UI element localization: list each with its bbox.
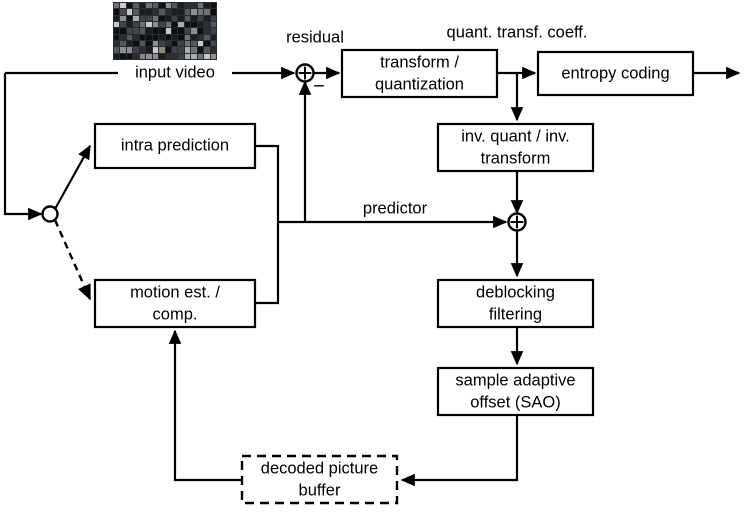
block-inv-quant-inv-transform[interactable]: inv. quant / inv. transform bbox=[438, 124, 593, 171]
block-label-line1: deblocking bbox=[476, 283, 555, 301]
subtract-node[interactable] bbox=[297, 65, 314, 82]
wire-switch-to-intra bbox=[55, 146, 90, 209]
wire-switch-to-motion bbox=[55, 220, 90, 299]
block-label-line2: buffer bbox=[299, 481, 341, 499]
label-quant-transf-coeff: quant. transf. coeff. bbox=[447, 23, 588, 41]
block-label-line1: intra prediction bbox=[121, 136, 229, 154]
block-label-line2: offset (SAO) bbox=[470, 393, 560, 411]
label-minus-sign: − bbox=[313, 75, 325, 97]
block-label-line1: decoded picture bbox=[261, 459, 378, 477]
block-sample-adaptive-offset[interactable]: sample adaptive offset (SAO) bbox=[438, 368, 593, 415]
wire-input-video-to-switch bbox=[5, 73, 41, 214]
block-label-line2: transform bbox=[481, 149, 551, 167]
add-node[interactable] bbox=[509, 214, 526, 231]
label-input-video: input video bbox=[135, 63, 215, 81]
block-entropy-coding[interactable]: entropy coding bbox=[538, 52, 693, 95]
mode-switch-node[interactable] bbox=[43, 207, 58, 222]
wire-motion-to-predictor-bus bbox=[255, 222, 278, 303]
block-decoded-picture-buffer[interactable]: decoded picture buffer bbox=[242, 456, 397, 503]
encoder-block-diagram: transform / quantization entropy coding … bbox=[0, 0, 744, 515]
block-label-line1: entropy coding bbox=[561, 64, 669, 82]
label-predictor: predictor bbox=[363, 199, 428, 217]
block-label-line2: comp. bbox=[153, 305, 198, 323]
block-label-line2: quantization bbox=[375, 75, 464, 93]
block-motion-est-comp[interactable]: motion est. / comp. bbox=[95, 280, 255, 327]
wire-sao-to-dpb bbox=[402, 415, 517, 480]
wire-dpb-to-motion bbox=[175, 331, 242, 480]
block-label-line1: inv. quant / inv. bbox=[461, 127, 570, 145]
diagram-canvas: transform / quantization entropy coding … bbox=[0, 0, 744, 515]
block-label-line1: sample adaptive bbox=[455, 371, 575, 389]
block-transform-quantization[interactable]: transform / quantization bbox=[342, 50, 497, 97]
block-deblocking-filtering[interactable]: deblocking filtering bbox=[438, 280, 593, 327]
block-label-line1: motion est. / bbox=[130, 283, 220, 301]
block-label-line1: transform / bbox=[380, 53, 459, 71]
wire-intra-to-predictor-bus bbox=[255, 146, 278, 222]
label-residual: residual bbox=[286, 28, 344, 46]
block-intra-prediction[interactable]: intra prediction bbox=[95, 124, 255, 168]
block-label-line2: filtering bbox=[489, 305, 542, 323]
